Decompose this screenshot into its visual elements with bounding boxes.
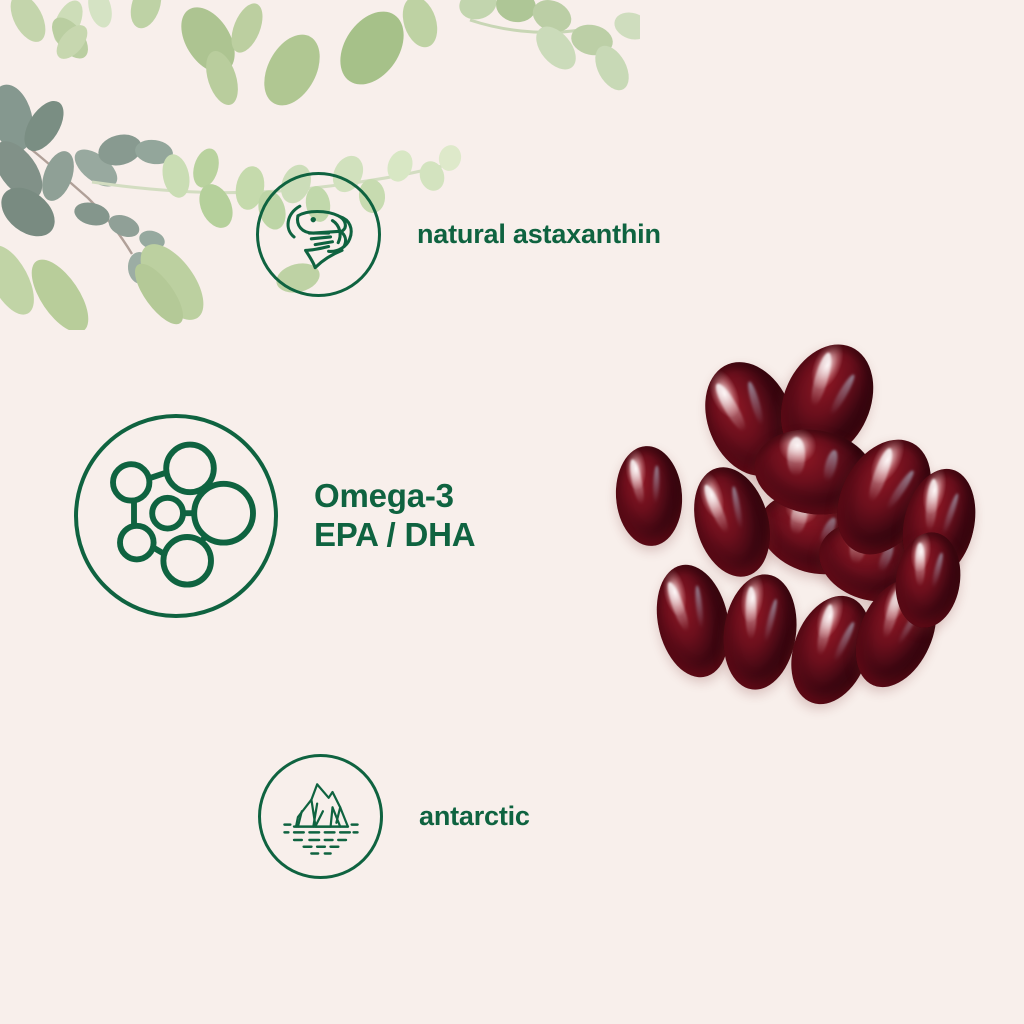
infographic-canvas: natural astaxanthin Omega-3 EPA / DH [0,0,1024,1024]
leaf [170,0,245,82]
feature-row-astaxanthin[interactable]: natural astaxanthin [256,172,661,297]
leaf [16,94,71,157]
molecule-node [152,498,183,529]
molecule-node [120,526,154,560]
leaf [494,0,539,25]
leaf [51,20,94,65]
molecule-icon [92,432,260,600]
leaf [128,233,215,330]
leaf [193,179,239,233]
leaf [225,0,269,57]
feature-row-omega3[interactable]: Omega-3 EPA / DHA [74,414,475,618]
leaf [137,228,167,252]
feature-label-antarctic: antarctic [419,801,530,833]
molecule-node [166,445,214,493]
leaf [0,178,64,246]
leaf [436,143,464,174]
shrimp-icon [271,187,367,283]
feature-label-omega3: Omega-3 EPA / DHA [314,477,475,555]
leaf [3,0,52,48]
leaf [84,0,116,30]
feature-label-astaxanthin: natural astaxanthin [417,219,661,251]
leaf [528,19,583,77]
leaf [125,0,166,32]
molecule-node [113,464,149,500]
leaf [611,8,640,44]
eucalyptus-sprig-top-right [455,0,640,96]
leaf [455,0,500,24]
leaf [95,130,145,170]
leaf [200,47,244,109]
leaf [21,251,99,330]
leaf [134,137,175,166]
iceberg-icon [273,769,369,865]
leaf [253,25,331,115]
leaf [528,0,577,38]
leaf [0,133,52,208]
feature-row-antarctic[interactable]: antarctic [258,754,530,879]
leaf [105,211,142,242]
shrimp-eye [310,216,315,221]
leaf [36,147,80,205]
leaf [397,0,444,52]
iceberg-badge [258,754,383,879]
leaf [72,199,112,229]
krill-oil-capsules-image [596,336,996,706]
capsule [613,444,686,548]
leaf [127,257,192,330]
molecule-node [194,484,253,543]
leaf [189,145,223,190]
capsule [716,570,803,695]
leaf [588,40,635,96]
leaf [45,11,95,65]
leaf [159,152,194,200]
leaf [47,0,88,48]
leaf [568,21,615,59]
leaf [68,142,123,193]
leaf [0,80,40,156]
molecule-badge [74,414,278,618]
leaf [0,238,44,322]
eucalyptus-branch-dark [0,80,174,285]
leaf [126,251,153,285]
molecule-node [163,537,211,585]
leaf [327,0,417,96]
shrimp-badge [256,172,381,297]
